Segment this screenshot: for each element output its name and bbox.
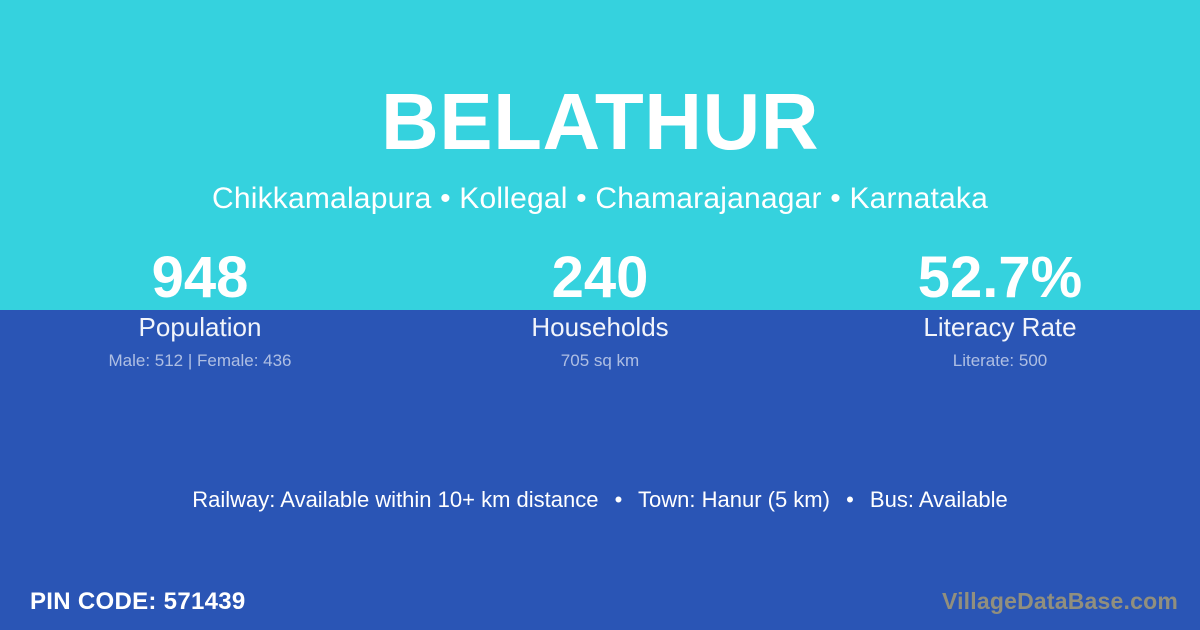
- stat-households-value: 240: [400, 246, 800, 310]
- amenity-bus: Bus: Available: [870, 487, 1008, 512]
- amenity-town: Town: Hanur (5 km): [638, 487, 830, 512]
- stat-population-value: 948: [0, 246, 400, 310]
- amenity-separator-2: •: [836, 486, 864, 514]
- stat-households-label: Households: [400, 312, 800, 342]
- stat-households: 240 Households 705 sq km: [400, 246, 800, 372]
- stat-literacy-rate-value: 52.7%: [800, 246, 1200, 310]
- stat-population: 948 Population Male: 512 | Female: 436: [0, 246, 400, 372]
- amenity-separator-1: •: [605, 486, 633, 514]
- amenity-railway: Railway: Available within 10+ km distanc…: [192, 487, 598, 512]
- site-brand-watermark: VillageDataBase.com: [942, 588, 1178, 614]
- breadcrumb: Chikkamalapura • Kollegal • Chamarajanag…: [0, 162, 1200, 216]
- amenities-line: Railway: Available within 10+ km distanc…: [0, 486, 1200, 514]
- pin-code: PIN CODE: 571439: [30, 588, 246, 616]
- stat-literacy-rate: 52.7% Literacy Rate Literate: 500: [800, 246, 1200, 372]
- stat-literacy-rate-detail: Literate: 500: [800, 350, 1200, 372]
- card-header: BELATHUR Chikkamalapura • Kollegal • Cha…: [0, 0, 1200, 216]
- stat-population-detail: Male: 512 | Female: 436: [0, 350, 400, 372]
- stat-literacy-rate-label: Literacy Rate: [800, 312, 1200, 342]
- stat-population-label: Population: [0, 312, 400, 342]
- stats-row: 948 Population Male: 512 | Female: 436 2…: [0, 246, 1200, 372]
- stat-households-detail: 705 sq km: [400, 350, 800, 372]
- card-footer: PIN CODE: 571439 VillageDataBase.com: [0, 570, 1200, 630]
- page-title: BELATHUR: [0, 0, 1200, 162]
- village-info-card: BELATHUR Chikkamalapura • Kollegal • Cha…: [0, 0, 1200, 630]
